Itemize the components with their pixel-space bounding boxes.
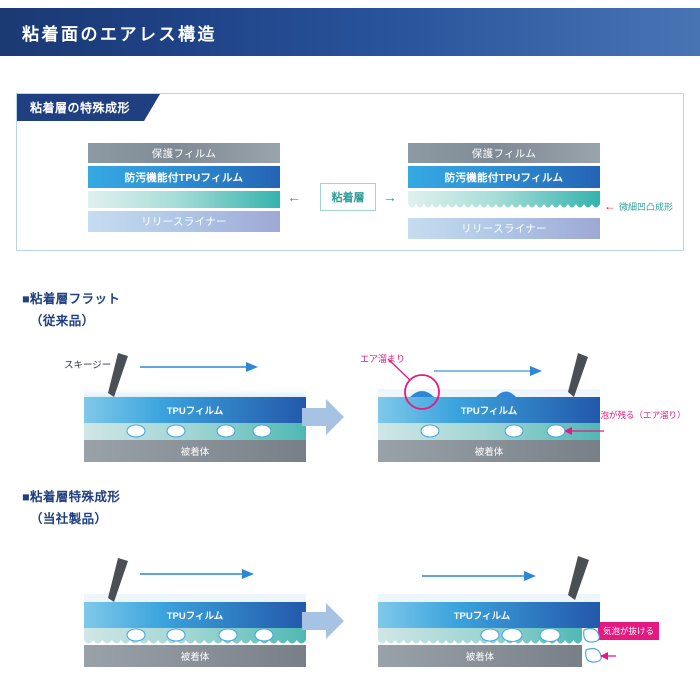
- stack-layer-tpu-film: 防汚機能付TPUフィルム: [88, 166, 280, 188]
- substrate-label: 被着体: [475, 446, 504, 458]
- page-header: 粘着面のエアレス構造: [0, 8, 700, 56]
- substrate-label: 被着体: [181, 651, 210, 663]
- substrate-label: 被着体: [466, 651, 495, 663]
- section1-subheading: （従来品）: [30, 310, 95, 329]
- tpu-film-label: TPUフィルム: [167, 611, 224, 622]
- stack-layer-release-liner: リリースライナー: [88, 211, 280, 232]
- panel-tab: 粘着層の特殊成形: [17, 94, 160, 121]
- section2-heading: ■粘着層特殊成形: [22, 486, 120, 505]
- diagram-flat-after: TPUフィルム 被着体: [372, 345, 612, 465]
- diagram-embossed-before: TPUフィルム 被着体: [78, 550, 318, 670]
- diagram-embossed-after: TPUフィルム 被着体: [372, 550, 612, 670]
- panel-tab-label: 粘着層の特殊成形: [30, 99, 130, 116]
- stack-layer-tpu-film: 防汚機能付TPUフィルム: [408, 166, 600, 188]
- diagram-page: 粘着面のエアレス構造 粘着層の特殊成形 保護フィルム 防汚機能付TPUフィルム …: [0, 0, 700, 700]
- page-title: 粘着面のエアレス構造: [22, 20, 217, 45]
- embossed-adhesive-stack: 保護フィルム 防汚機能付TPUフィルム リリースライナー: [408, 143, 600, 239]
- micro-emboss-label: 微細凹凸成形: [619, 200, 673, 213]
- arrow-right-icon: →: [383, 190, 397, 204]
- arrow-left-icon: ←: [287, 190, 301, 204]
- stack-layer-adhesive-flat: [88, 191, 280, 208]
- stack-layer-release-liner: リリースライナー: [408, 218, 600, 239]
- stack-layer-protective-film: 保護フィルム: [408, 143, 600, 163]
- micro-emboss-annotation: ← 微細凹凸成形: [604, 200, 673, 213]
- section1-heading: ■粘着層フラット: [22, 288, 120, 307]
- tpu-film-label: TPUフィルム: [454, 611, 511, 622]
- tpu-film-label: TPUフィルム: [167, 406, 224, 417]
- stack-layer-protective-film: 保護フィルム: [88, 143, 280, 163]
- process-arrow-icon: [300, 600, 346, 642]
- adhesive-layer-callout: 粘着層: [320, 183, 376, 211]
- stack-layer-adhesive-embossed: [408, 191, 600, 215]
- arrow-left-red-icon: ←: [604, 202, 616, 211]
- substrate-label: 被着体: [181, 446, 210, 458]
- tpu-film-label: TPUフィルム: [461, 406, 518, 417]
- section2-subheading: （当社製品）: [30, 508, 107, 527]
- flat-adhesive-stack: 保護フィルム 防汚機能付TPUフィルム リリースライナー: [88, 143, 280, 232]
- adhesive-layer-callout-label: 粘着層: [332, 189, 365, 205]
- process-arrow-icon: [300, 396, 346, 438]
- diagram-flat-before: TPUフィルム 被着体: [78, 345, 318, 465]
